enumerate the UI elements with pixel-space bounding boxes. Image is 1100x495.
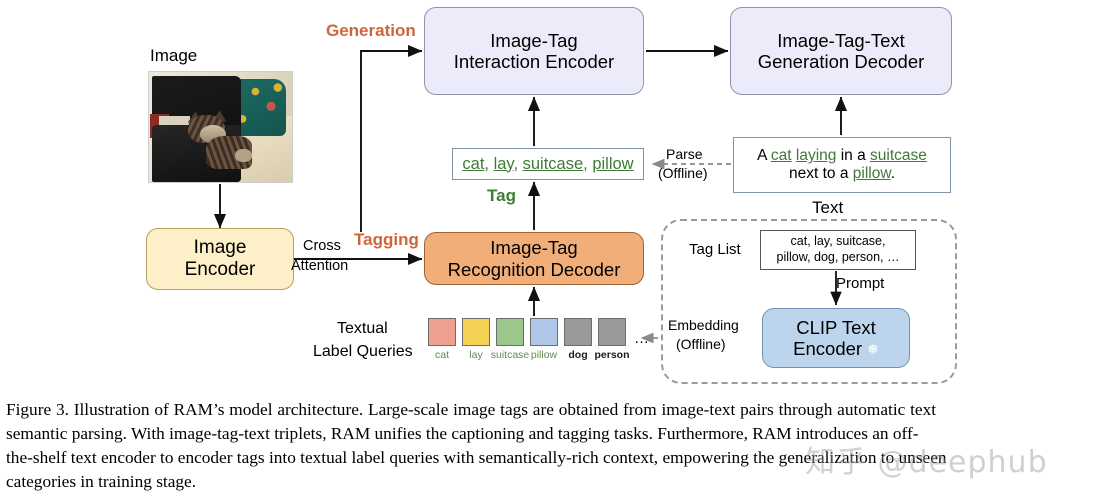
text-highlight-token: pillow	[853, 165, 891, 182]
parse-label: Parse	[666, 146, 703, 162]
tag-list-line1: cat, lay, suitcase,	[791, 234, 886, 250]
tag-token: pillow	[592, 155, 633, 173]
image-tag-text-generation-decoder-box[interactable]: Image-Tag-Text Generation Decoder	[730, 7, 952, 95]
text-highlight-token: suitcase	[870, 147, 927, 164]
label-query-name: person	[595, 349, 630, 361]
caption-line: the-shelf text encoder to encoder tags i…	[6, 446, 1094, 470]
input-image-thumbnail	[148, 71, 293, 183]
text-box-line2: next to a pillow.	[789, 165, 895, 183]
text-box: A cat laying in a suitcase next to a pil…	[733, 137, 951, 193]
prompt-label: Prompt	[836, 275, 884, 292]
generation-branch-label: Generation	[326, 21, 416, 41]
image-encoder-line2: Encoder	[185, 259, 256, 281]
recognition-decoder-line2: Recognition Decoder	[448, 259, 621, 280]
tagging-branch-label: Tagging	[354, 230, 419, 250]
tag-separator: ,	[484, 155, 493, 173]
snowflake-frozen-icon: ❅	[867, 341, 879, 357]
clip-encoder-line2: Encoder	[793, 338, 862, 359]
image-encoder-box[interactable]: Image Encoder	[146, 228, 294, 290]
label-query-swatch	[428, 318, 456, 346]
tag-token: lay	[494, 155, 514, 173]
label-query-name: cat	[435, 349, 449, 361]
textual-label-line1: Textual	[337, 320, 388, 338]
cross-label: Cross	[303, 238, 341, 254]
tag-list-line2: pillow, dog, person, …	[777, 250, 900, 266]
embedding-offline-label: (Offline)	[676, 336, 726, 352]
image-tag-recognition-decoder-box[interactable]: Image-Tag Recognition Decoder	[424, 232, 644, 285]
tag-list-inline: cat, lay, suitcase, pillow	[462, 155, 633, 174]
clip-text-encoder-box[interactable]: CLIP Text Encoder ❅	[762, 308, 910, 368]
image-label: Image	[150, 46, 197, 66]
label-query-swatch	[564, 318, 592, 346]
tag-caption-label: Tag	[487, 186, 516, 206]
label-query-item: lay	[462, 318, 490, 366]
interaction-encoder-line2: Interaction Encoder	[454, 51, 614, 72]
caption-line: Figure 3. Illustration of RAM’s model ar…	[6, 398, 1094, 422]
text-plain-token: A	[757, 147, 771, 164]
label-query-item: person	[598, 318, 626, 366]
label-query-item: suitcase	[496, 318, 524, 366]
tag-list-label: Tag List	[689, 241, 741, 258]
label-query-swatch	[462, 318, 490, 346]
tag-list-box: cat, lay, suitcase, pillow, dog, person,…	[760, 230, 916, 270]
label-query-swatch	[530, 318, 558, 346]
attention-label: Attention	[291, 258, 348, 274]
tag-separator: ,	[583, 155, 592, 173]
clip-encoder-line2row: Encoder ❅	[793, 338, 879, 359]
generation-decoder-line1: Image-Tag-Text	[777, 30, 905, 51]
label-query-name: dog	[568, 349, 587, 361]
tag-token: suitcase	[523, 155, 584, 173]
queries-ellipsis: …	[634, 330, 649, 347]
generation-decoder-line2: Generation Decoder	[758, 51, 925, 72]
text-box-line1: A cat laying in a suitcase	[757, 147, 927, 165]
label-query-swatch	[496, 318, 524, 346]
label-query-name: pillow	[531, 349, 557, 361]
caption-line: semantic parsing. With image-tag-text tr…	[6, 422, 1094, 446]
tag-box: cat, lay, suitcase, pillow	[452, 148, 644, 180]
text-plain-token: next to a	[789, 165, 853, 182]
label-query-name: suitcase	[491, 349, 530, 361]
figure-caption: Figure 3. Illustration of RAM’s model ar…	[0, 396, 1100, 495]
textual-label-queries: catlaysuitcasepillowdogperson	[428, 318, 628, 366]
tag-separator: ,	[513, 155, 522, 173]
text-highlight-token: cat	[771, 147, 792, 164]
embedding-label: Embedding	[668, 317, 739, 333]
parse-offline-label: (Offline)	[658, 165, 708, 181]
clip-encoder-line1: CLIP Text	[796, 317, 876, 338]
label-query-name: lay	[469, 349, 482, 361]
label-query-swatch	[598, 318, 626, 346]
text-plain-token: .	[891, 165, 895, 182]
architecture-diagram: Image Image-Tag Interaction Encoder Imag…	[0, 0, 1100, 392]
textual-label-line2: Label Queries	[313, 343, 413, 361]
text-highlight-token: laying	[796, 147, 837, 164]
image-tag-interaction-encoder-box[interactable]: Image-Tag Interaction Encoder	[424, 7, 644, 95]
interaction-encoder-line1: Image-Tag	[490, 30, 577, 51]
label-query-item: pillow	[530, 318, 558, 366]
recognition-decoder-line1: Image-Tag	[490, 237, 577, 258]
label-query-item: dog	[564, 318, 592, 366]
image-encoder-line1: Image	[194, 237, 247, 259]
text-plain-token: in a	[836, 147, 870, 164]
text-caption-label: Text	[812, 198, 843, 218]
caption-line: categories in training stage.	[6, 470, 1094, 494]
figure-root: Image Image-Tag Interaction Encoder Imag…	[0, 0, 1100, 495]
tag-token: cat	[462, 155, 484, 173]
label-query-item: cat	[428, 318, 456, 366]
